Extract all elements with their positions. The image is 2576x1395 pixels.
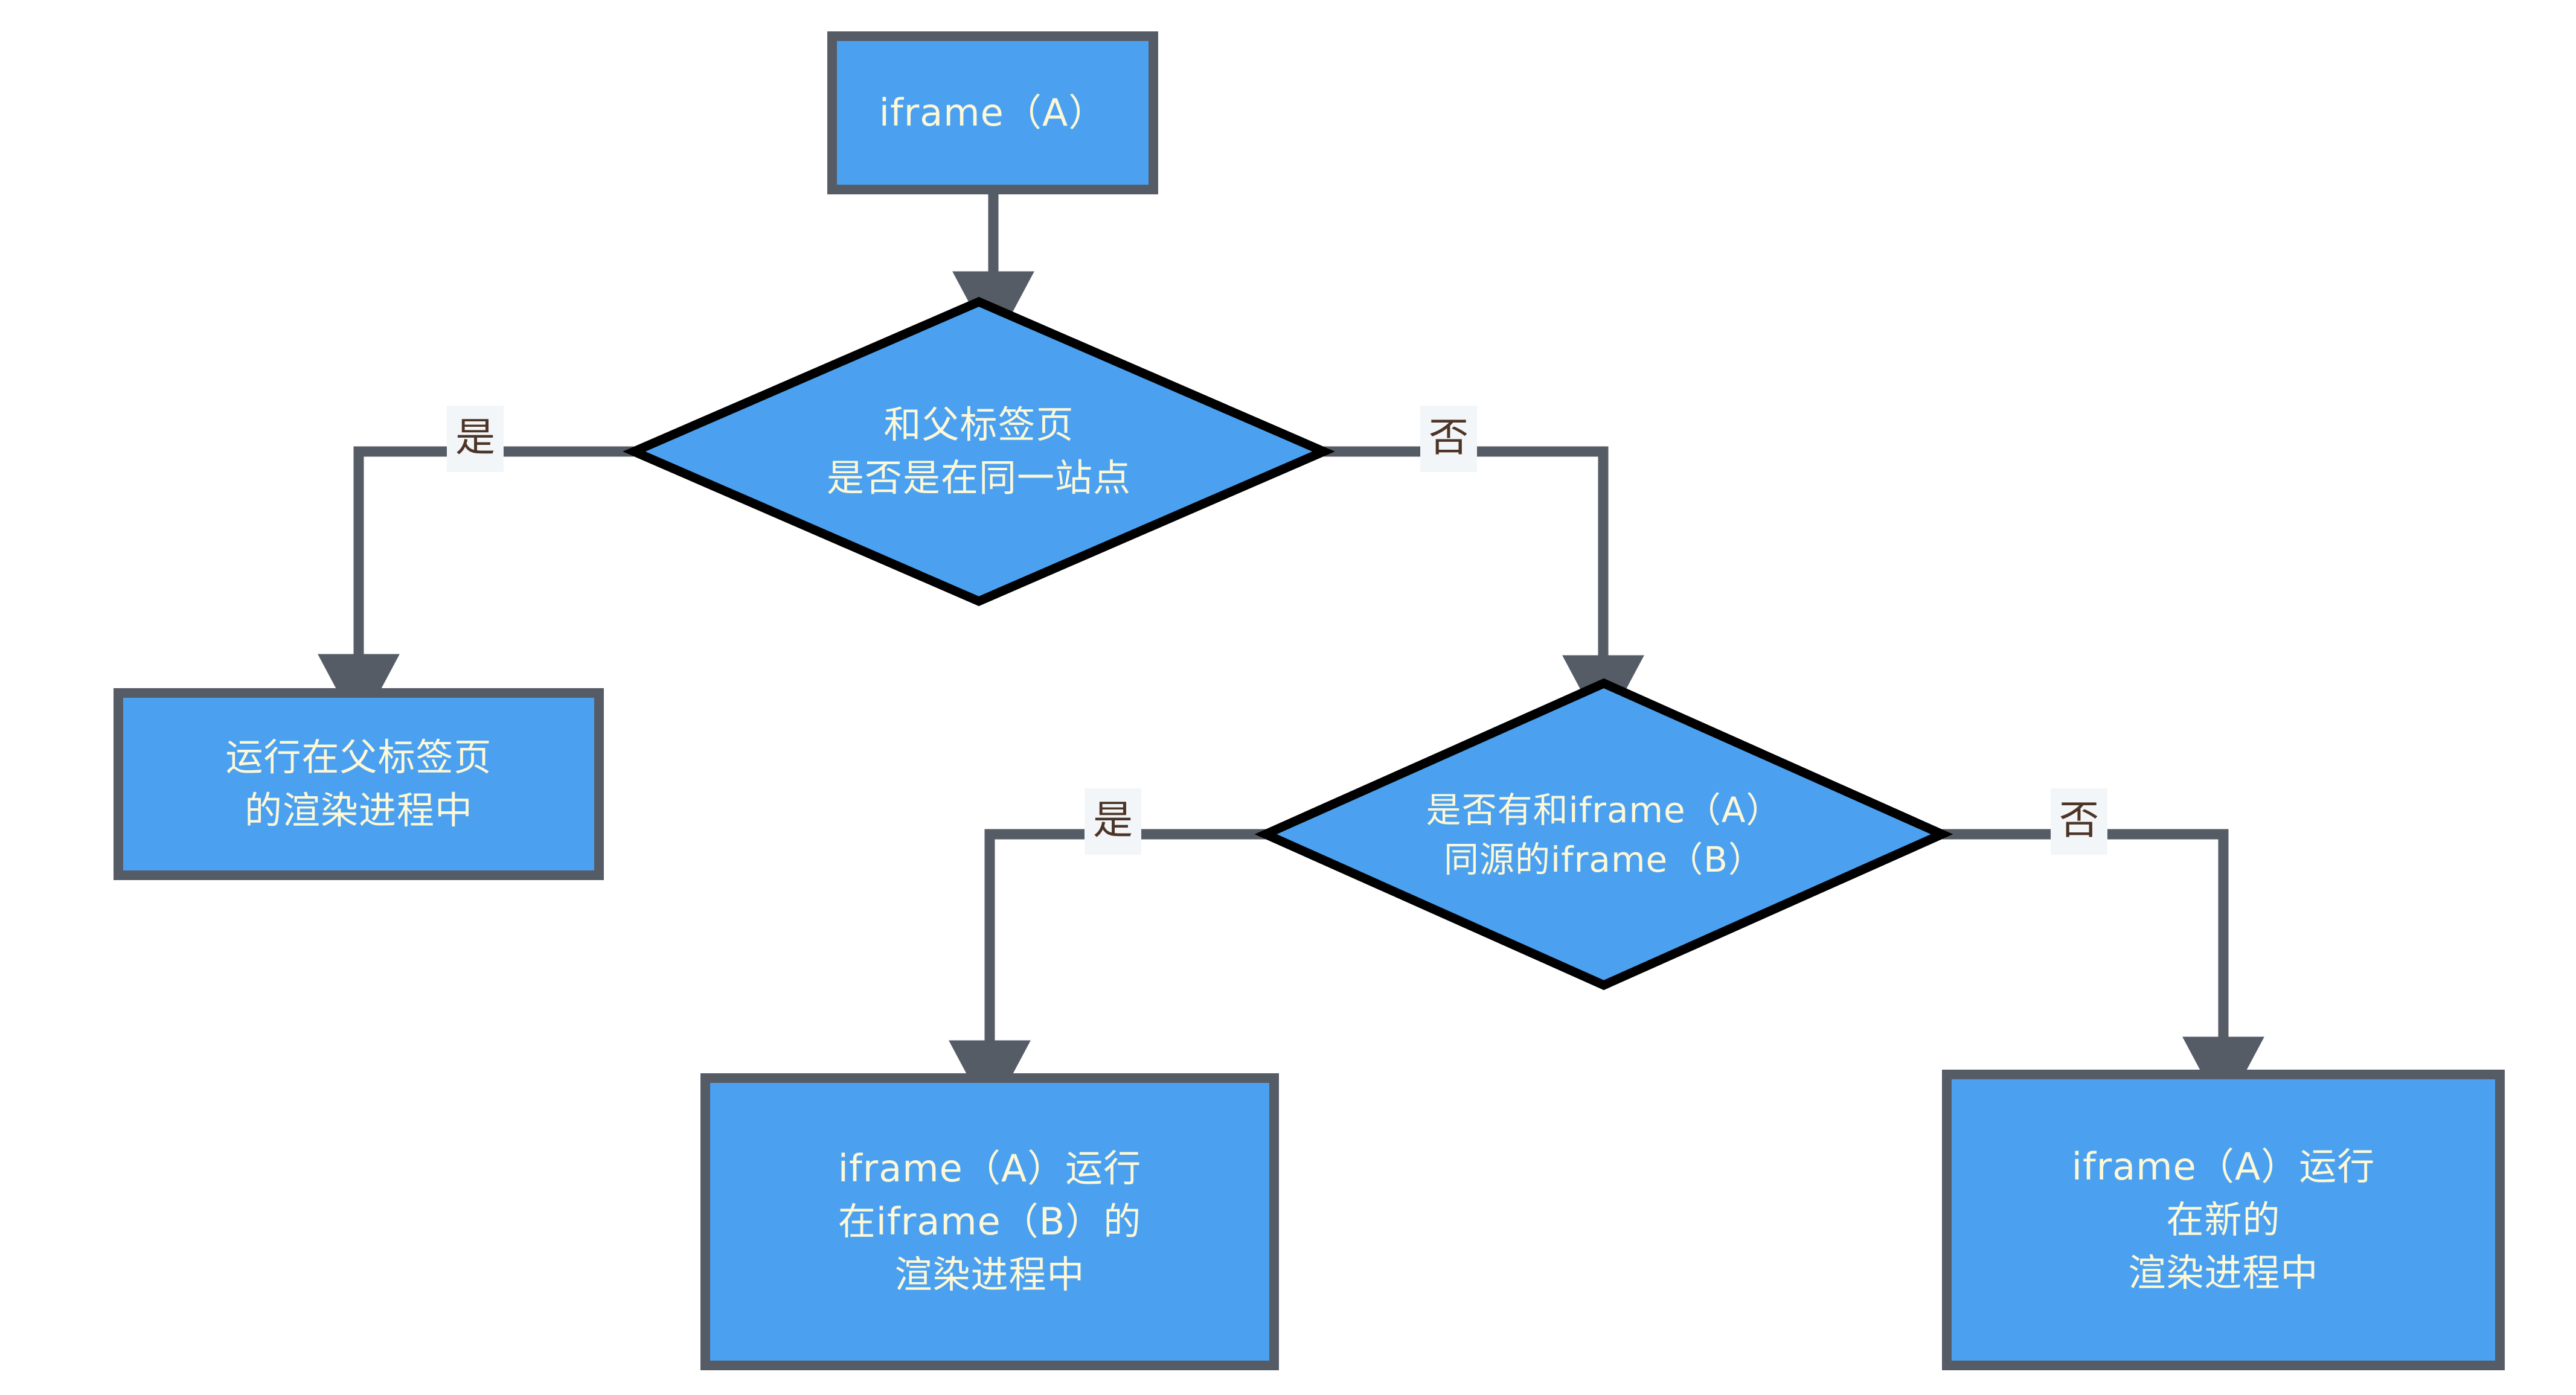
node-result-parent-process-rect[interactable]	[118, 693, 599, 875]
flowchart-svg	[0, 0, 2576, 1395]
node-result-iframe-b-process-rect[interactable]	[705, 1078, 1274, 1365]
edge-same-site-yes-to-parent-process	[359, 452, 634, 665]
edge-label-same-origin-yes: 是	[1085, 788, 1141, 855]
node-result-new-process-rect[interactable]	[1947, 1074, 2500, 1365]
node-decision-same-origin-diamond[interactable]	[1266, 683, 1942, 985]
edge-same-site-no-to-same-origin	[1324, 452, 1603, 666]
edge-same-origin-no-to-new-process	[1942, 834, 2223, 1048]
node-start-rect[interactable]	[832, 36, 1153, 190]
edge-same-origin-yes-to-iframe-b-process	[990, 834, 1266, 1052]
edge-label-same-site-yes: 是	[447, 406, 504, 472]
edge-label-same-origin-no: 否	[2051, 788, 2107, 855]
node-decision-same-site-diamond[interactable]	[634, 302, 1324, 601]
flowchart-canvas: iframe（A） 和父标签页 是否是在同一站点 运行在父标签页 的渲染进程中 …	[0, 0, 2576, 1395]
edge-label-same-site-no: 否	[1420, 406, 1477, 472]
